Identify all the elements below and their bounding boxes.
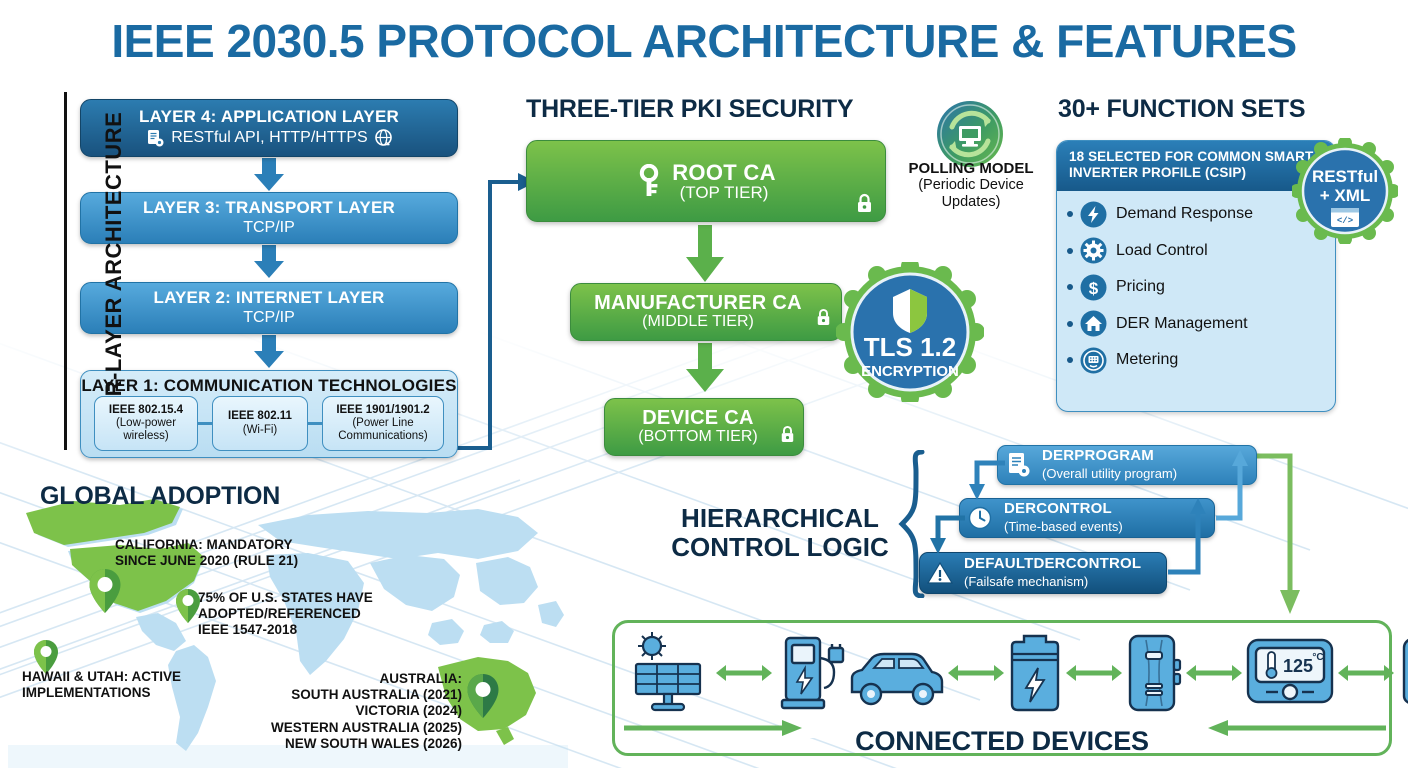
globe-icon: [374, 128, 393, 147]
annotation-line: ADOPTED/REFERENCED: [198, 606, 373, 622]
function-set-label: DER Management: [1116, 315, 1248, 333]
key-icon: [636, 164, 662, 198]
thermostat-icon[interactable]: 125 °C: [1242, 630, 1338, 716]
annotation-line: SOUTH AUSTRALIA (2021): [230, 687, 462, 703]
pki-root-ca-box[interactable]: ROOT CA (TOP TIER): [526, 140, 886, 222]
connected-devices-row: 125 °C: [624, 628, 1380, 718]
arrow-car-to-battery: [948, 663, 1004, 683]
refresh-monitor-icon: [936, 100, 1004, 168]
tech-name: IEEE 1901/1901.2: [336, 404, 429, 417]
function-set-label: Pricing: [1116, 278, 1165, 296]
layer-1-title: LAYER 1: COMMUNICATION TECHNOLOGIES: [81, 377, 456, 396]
arrow-rootca-to-manufacturer: [682, 225, 728, 283]
tls-badge: TLS 1.2 ENCRYPTION: [836, 262, 984, 402]
function-sets-heading: 30+ FUNCTION SETS: [1058, 95, 1305, 124]
inverter-icon[interactable]: [1122, 630, 1186, 716]
annotation-hawaii-utah: HAWAII & UTAH: ACTIVE IMPLEMENTATIONS: [22, 669, 181, 701]
layer-3-subtitle: TCP/IP: [243, 218, 295, 237]
home-icon: [1080, 310, 1107, 337]
map-pin-california[interactable]: [88, 568, 122, 614]
hierarchy-label-line1: HIERARCHICAL: [681, 503, 879, 533]
water-heater-icon[interactable]: [1394, 630, 1408, 716]
annotation-line: HAWAII & UTAH: ACTIVE: [22, 669, 181, 685]
map-pin-australia[interactable]: [466, 673, 500, 719]
layer-4-subtitle: RESTful API, HTTP/HTTPS: [171, 128, 367, 147]
pki-manufacturer-name: MANUFACTURER CA: [594, 293, 802, 314]
pki-manufacturer-ca-box[interactable]: MANUFACTURER CA (MIDDLE TIER): [570, 283, 842, 341]
annotation-line: 75% OF U.S. STATES HAVE: [198, 590, 373, 606]
pki-device-tier: (BOTTOM TIER): [638, 429, 757, 446]
arrow-thermostat-to-heater: [1338, 663, 1394, 683]
lock-icon: [856, 193, 873, 213]
function-set-label: Load Control: [1116, 242, 1208, 260]
restful-badge-line1: RESTful: [1312, 167, 1378, 186]
tls-badge-line2: ENCRYPTION: [861, 363, 959, 380]
layer-4-title: LAYER 4: APPLICATION LAYER: [139, 108, 399, 127]
polling-model-icon-wrap: [936, 100, 1004, 168]
bullet-dot: [1067, 321, 1073, 327]
arrow-into-label-right: [1206, 718, 1386, 738]
svg-text:</>: </>: [1337, 216, 1353, 226]
gear-icon: [1080, 237, 1107, 264]
function-set-item[interactable]: Metering: [1067, 347, 1335, 374]
annotation-us-states: 75% OF U.S. STATES HAVE ADOPTED/REFERENC…: [198, 590, 373, 639]
layer-3-box[interactable]: LAYER 3: TRANSPORT LAYER TCP/IP: [80, 192, 458, 244]
lightning-bolt-icon: [1080, 201, 1107, 228]
arrow-manufacturer-to-device: [682, 343, 728, 393]
tech-ieee-802-15-4[interactable]: IEEE 802.15.4 (Low-power wireless): [94, 396, 198, 451]
hierarchy-label-line2: CONTROL LOGIC: [671, 532, 889, 562]
layer-4-box[interactable]: LAYER 4: APPLICATION LAYER RESTful API, …: [80, 99, 458, 157]
thermostat-reading: 125: [1283, 656, 1313, 676]
api-document-icon: [145, 128, 165, 148]
restful-xml-badge: RESTful + XML </>: [1292, 138, 1398, 244]
function-set-label: Metering: [1116, 351, 1178, 369]
tech-ieee-802-11[interactable]: IEEE 802.11 (Wi-Fi): [212, 396, 308, 451]
layer-2-subtitle: TCP/IP: [243, 308, 295, 327]
tech-connector-1: [198, 422, 212, 425]
arrow-inverter-to-thermostat: [1186, 663, 1242, 683]
function-set-item[interactable]: DER Management: [1067, 310, 1335, 337]
arrow-solar-to-charger: [716, 663, 772, 683]
solar-panel-icon[interactable]: [624, 630, 716, 716]
annotation-line: IEEE 1547-2018: [198, 622, 373, 638]
function-set-label: Demand Response: [1116, 205, 1253, 223]
annotation-line: NEW SOUTH WALES (2026): [230, 736, 462, 752]
svg-text:$: $: [1089, 279, 1099, 298]
arrow-into-label-left: [624, 718, 804, 738]
tech-detail: (Wi-Fi): [243, 424, 277, 437]
thermostat-unit: °C: [1312, 652, 1323, 663]
pki-device-name: DEVICE CA: [638, 408, 757, 429]
annotation-line: WESTERN AUSTRALIA (2025): [230, 720, 462, 736]
annotation-australia: AUSTRALIA: SOUTH AUSTRALIA (2021) VICTOR…: [230, 671, 462, 752]
bullet-dot: [1067, 357, 1073, 363]
tech-detail: (Low-power wireless): [95, 417, 197, 443]
polling-model-text: POLLING MODEL (Periodic Device Updates): [900, 160, 1042, 211]
tech-connector-2: [308, 422, 322, 425]
annotation-line: SINCE JUNE 2020 (RULE 21): [115, 553, 298, 569]
function-set-item[interactable]: $ Pricing: [1067, 274, 1335, 301]
dollar-icon: $: [1080, 274, 1107, 301]
tech-detail: (Power Line Communications): [323, 417, 443, 443]
pki-manufacturer-tier: (MIDDLE TIER): [594, 314, 802, 331]
layer-3-title: LAYER 3: TRANSPORT LAYER: [143, 199, 395, 218]
tech-ieee-1901[interactable]: IEEE 1901/1901.2 (Power Line Communicati…: [322, 396, 444, 451]
lock-icon: [816, 308, 831, 326]
arrow-layer3-to-layer2: [250, 245, 288, 279]
arrow-layer4-to-layer3: [250, 158, 288, 192]
annotation-line: AUSTRALIA:: [230, 671, 462, 687]
bullet-dot: [1067, 211, 1073, 217]
polling-subtitle: (Periodic Device Updates): [900, 177, 1042, 211]
tls-badge-line1: TLS 1.2: [864, 332, 956, 362]
bullet-dot: [1067, 284, 1073, 290]
tech-name: IEEE 802.15.4: [109, 404, 183, 417]
tech-name: IEEE 802.11: [228, 410, 292, 423]
battery-icon[interactable]: [1004, 630, 1066, 716]
lock-icon: [780, 425, 795, 443]
arrow-layer2-to-layer1: [250, 335, 288, 369]
infographic-root: IEEE 2030.5 PROTOCOL ARCHITECTURE & FEAT…: [0, 0, 1408, 768]
pki-root-ca-tier: (TOP TIER): [672, 184, 776, 202]
polling-title: POLLING MODEL: [900, 160, 1042, 177]
layer-2-title: LAYER 2: INTERNET LAYER: [154, 289, 385, 308]
annotation-line: IMPLEMENTATIONS: [22, 685, 181, 701]
hierarchy-connectors: [910, 440, 1310, 610]
page-title: IEEE 2030.5 PROTOCOL ARCHITECTURE & FEAT…: [0, 14, 1408, 68]
annotation-line: CALIFORNIA: MANDATORY: [115, 537, 298, 553]
code-window-icon: </>: [1331, 208, 1359, 227]
pki-heading: THREE-TIER PKI SECURITY: [526, 95, 853, 124]
pki-root-ca-name: ROOT CA: [672, 161, 776, 184]
annotation-line: VICTORIA (2024): [230, 703, 462, 719]
arrow-battery-to-inverter: [1066, 663, 1122, 683]
ev-charger-car-icon[interactable]: [772, 630, 948, 716]
layer-2-box[interactable]: LAYER 2: INTERNET LAYER TCP/IP: [80, 282, 458, 334]
restful-badge-line2: + XML: [1320, 186, 1371, 205]
hierarchy-label: HIERARCHICAL CONTROL LOGIC: [660, 504, 900, 562]
pki-device-ca-box[interactable]: DEVICE CA (BOTTOM TIER): [604, 398, 804, 456]
annotation-california: CALIFORNIA: MANDATORY SINCE JUNE 2020 (R…: [115, 537, 298, 569]
bullet-dot: [1067, 248, 1073, 254]
architecture-divider: [64, 92, 67, 450]
meter-icon: [1080, 347, 1107, 374]
global-adoption-heading: GLOBAL ADOPTION: [40, 482, 280, 511]
